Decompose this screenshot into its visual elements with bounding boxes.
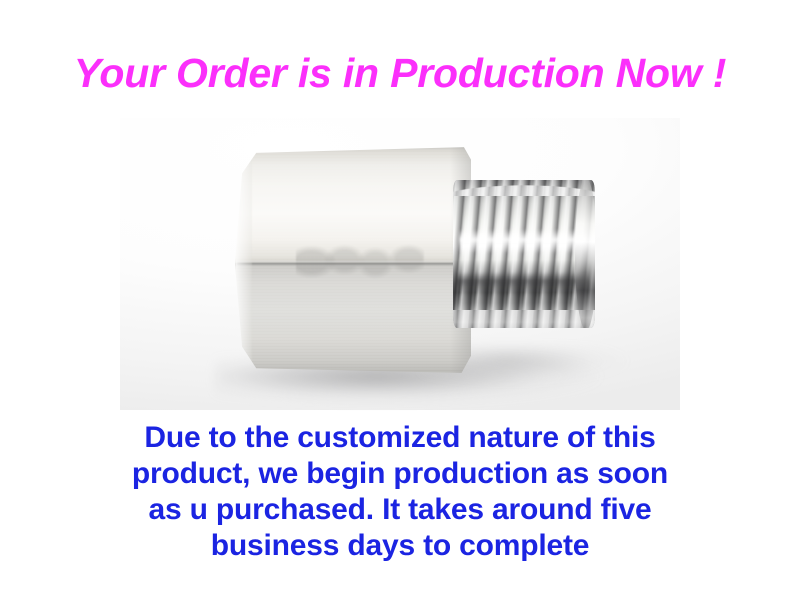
disclaimer-line-2: product, we begin production as soon [60, 456, 740, 492]
thread-crest-bottom-edge [453, 310, 595, 328]
disclaimer-line-4: business days to complete [60, 528, 740, 564]
page-title: Your Order is in Production Now ! [0, 50, 800, 96]
thread-ridges [453, 180, 595, 328]
hex-facet-edge [237, 261, 468, 266]
male-threaded-spigot [453, 180, 595, 328]
thread-crest-top-edge [453, 180, 595, 196]
thread-root-shadow [456, 272, 590, 296]
thread-end-cap [575, 180, 595, 328]
disclaimer-line-1: Due to the customized nature of this [60, 420, 740, 456]
product-photo [120, 118, 680, 410]
disclaimer-text: Due to the customized nature of this pro… [60, 420, 740, 564]
thread-specular-highlight [459, 229, 587, 253]
disclaimer-line-3: as u purchased. It takes around five [60, 492, 740, 528]
hex-nut-body [235, 146, 471, 374]
notice-canvas: Your Order is in Production Now ! [0, 0, 800, 600]
